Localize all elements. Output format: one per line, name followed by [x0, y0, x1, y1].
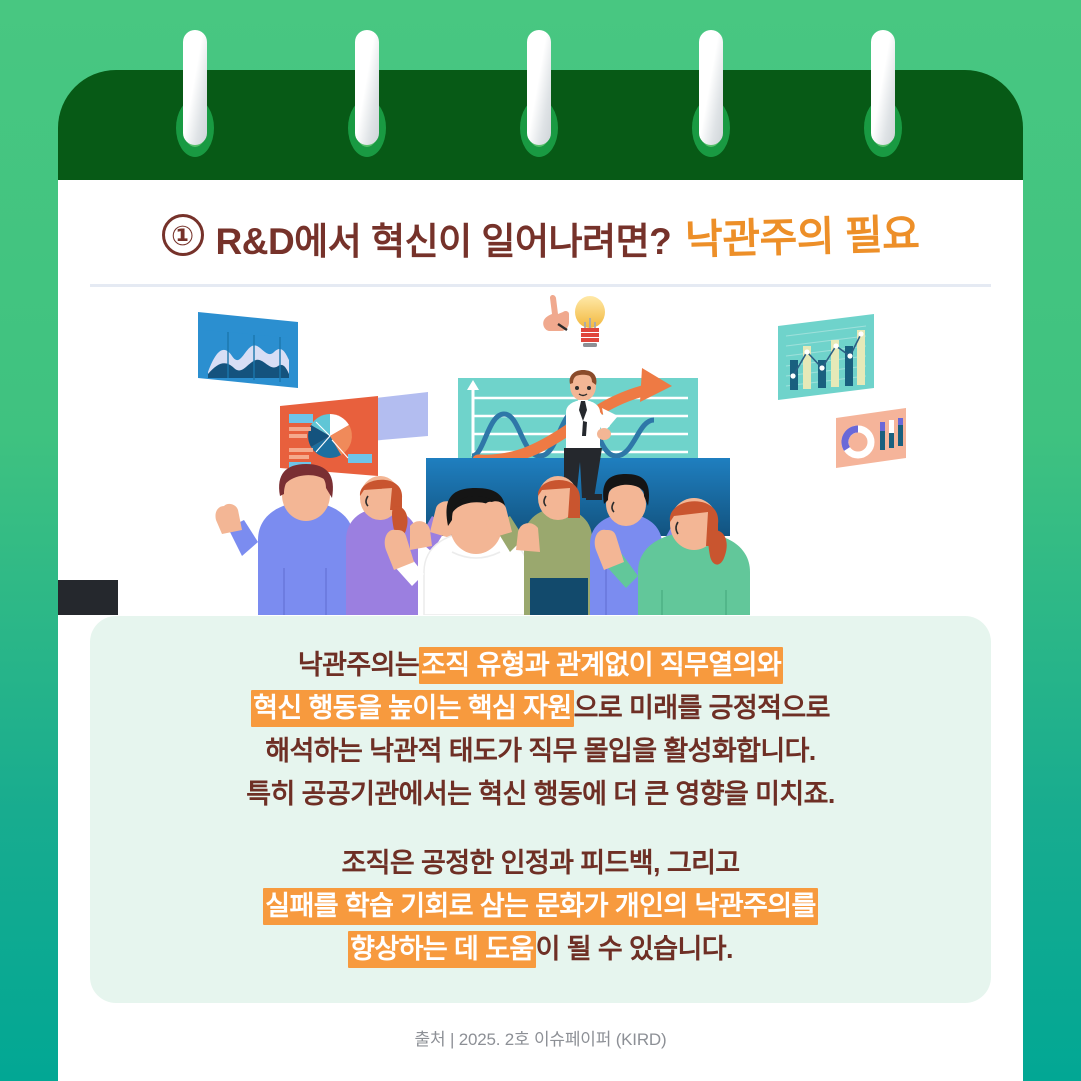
text-run: 해석하는 낙관적 태도가 직무 몰입을 활성화합니다. [265, 736, 815, 766]
paragraph-1: 낙관주의는조직 유형과 관계없이 직무열의와 혁신 행동을 높이는 핵심 자원으… [90, 644, 991, 816]
pointing-hand-icon [543, 295, 569, 331]
team-celebrating-presentation-illustration [58, 290, 1023, 615]
text-line: 낙관주의는조직 유형과 관계없이 직무열의와 [90, 644, 991, 687]
highlight-run: 향상하는 데 도움 [348, 931, 535, 968]
text-line: 혁신 행동을 높이는 핵심 자원으로 미래를 긍정적으로 [90, 687, 991, 730]
card-body: ①R&D에서 혁신이 일어나려면?낙관주의 필요 [58, 180, 1023, 1081]
text-run: 낙관주의는 [298, 650, 419, 680]
text-run: 으로 미래를 긍정적으로 [574, 693, 830, 723]
highlight-run: 실패를 학습 기회로 삼는 문화가 개인의 낙관주의를 [263, 888, 817, 925]
bar-line-chart-panel [778, 314, 874, 400]
title-main-text: R&D에서 혁신이 일어나려면? [216, 211, 672, 265]
binder-ring-2 [355, 30, 379, 145]
paragraph-2: 조직은 공정한 인정과 피드백, 그리고 실패를 학습 기회로 삼는 문화가 개… [90, 842, 991, 971]
area-chart-panel [198, 312, 298, 388]
title-accent-text: 낙관주의 필요 [685, 200, 921, 266]
text-line: 해석하는 낙관적 태도가 직무 몰입을 활성화합니다. [90, 730, 991, 773]
binder-ring-3 [527, 30, 551, 145]
body-text-panel: 낙관주의는조직 유형과 관계없이 직무열의와 혁신 행동을 높이는 핵심 자원으… [90, 616, 991, 1003]
page-title: ①R&D에서 혁신이 일어나려면?낙관주의 필요 [58, 208, 1023, 268]
illustration-svg [58, 290, 1023, 615]
text-line: 특히 공공기관에서는 혁신 행동에 더 큰 영향을 미치죠. [90, 773, 991, 816]
binder-ring-1 [183, 30, 207, 145]
step-number-badge: ① [162, 214, 204, 256]
binder-rings [0, 0, 1081, 190]
pie-chart-panel [280, 396, 378, 476]
highlight-run: 혁신 행동을 높이는 핵심 자원 [251, 690, 574, 727]
binder-ring-4 [699, 30, 723, 145]
donut-bars-panel [836, 408, 906, 468]
text-run: 특히 공공기관에서는 혁신 행동에 더 큰 영향을 미치죠. [246, 779, 835, 809]
title-divider [90, 284, 991, 287]
lightbulb-icon [575, 296, 605, 347]
highlight-run: 조직 유형과 관계없이 직무열의와 [419, 647, 783, 684]
text-line: 실패를 학습 기회로 삼는 문화가 개인의 낙관주의를 [90, 885, 991, 928]
text-line: 향상하는 데 도움이 될 수 있습니다. [90, 928, 991, 971]
text-run: 조직은 공정한 인정과 피드백, 그리고 [341, 848, 739, 878]
binder-ring-5 [871, 30, 895, 145]
infographic-card-canvas: ①R&D에서 혁신이 일어나려면?낙관주의 필요 [0, 0, 1081, 1081]
text-run: 이 될 수 있습니다. [536, 934, 733, 964]
source-footer: 출처 | 2025. 2호 이슈페이퍼 (KIRD) [58, 1025, 1023, 1050]
text-line: 조직은 공정한 인정과 피드백, 그리고 [90, 842, 991, 885]
